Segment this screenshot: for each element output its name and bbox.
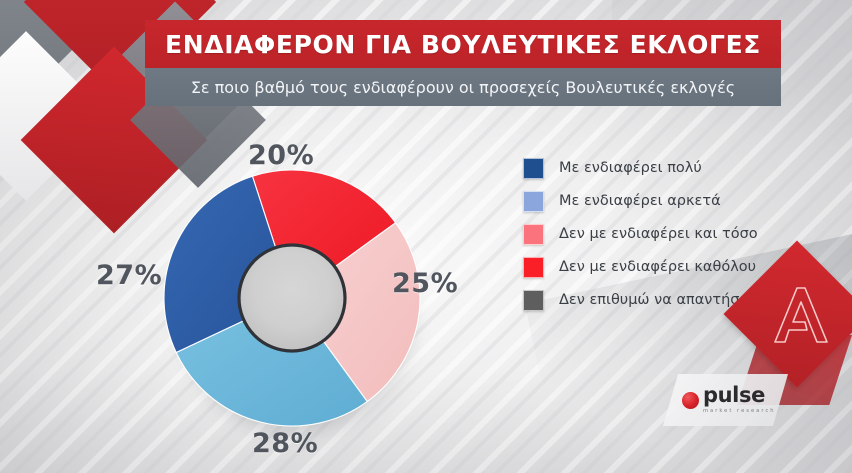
legend-item: Με ενδιαφέρει αρκετά	[523, 188, 758, 214]
legend-item: Με ενδιαφέρει πολύ	[523, 155, 758, 181]
pulse-dot-icon	[682, 392, 699, 409]
pct-label-top: 20%	[248, 140, 314, 171]
pulse-tagline: market research	[703, 409, 776, 414]
legend-swatch-icon	[523, 257, 544, 278]
poll-graphic: ΕΝΔΙΑΦΕΡΟΝ ΓΙΑ ΒΟΥΛΕΥΤΙΚΕΣ ΕΚΛΟΓΕΣ Σε πο…	[0, 0, 852, 473]
chart-legend: Με ενδιαφέρει πολύΜε ενδιαφέρει αρκετάΔε…	[523, 155, 758, 320]
legend-label: Δεν επιθυμώ να απαντήσω	[559, 292, 752, 308]
legend-label: Δεν με ενδιαφέρει και τόσο	[559, 226, 758, 242]
legend-swatch-icon	[523, 224, 544, 245]
legend-label: Δεν με ενδιαφέρει καθόλου	[559, 259, 756, 275]
pct-label-left: 27%	[96, 260, 162, 291]
legend-label: Με ενδιαφέρει πολύ	[559, 160, 702, 176]
alpha-a-icon	[745, 262, 849, 366]
pulse-wordmark: pulse	[703, 385, 776, 406]
title-bar: ΕΝΔΙΑΦΕΡΟΝ ΓΙΑ ΒΟΥΛΕΥΤΙΚΕΣ ΕΚΛΟΓΕΣ	[145, 20, 781, 68]
legend-item: Δεν με ενδιαφέρει και τόσο	[523, 221, 758, 247]
donut-chart-svg	[158, 168, 426, 436]
pct-label-right: 25%	[392, 268, 458, 299]
legend-item: Δεν με ενδιαφέρει καθόλου	[523, 254, 758, 280]
legend-item: Δεν επιθυμώ να απαντήσω	[523, 287, 758, 313]
pulse-logo: pulse market research	[663, 374, 788, 426]
legend-swatch-icon	[523, 191, 544, 212]
donut-chart	[158, 168, 426, 436]
donut-center-hole	[239, 245, 345, 351]
legend-swatch-icon	[523, 290, 544, 311]
legend-label: Με ενδιαφέρει αρκετά	[559, 193, 721, 209]
subtitle-bar: Σε ποιο βαθμό τους ενδιαφέρουν οι προσεχ…	[145, 68, 781, 106]
pct-label-bottom: 28%	[252, 428, 318, 459]
page-subtitle: Σε ποιο βαθμό τους ενδιαφέρουν οι προσεχ…	[191, 78, 735, 97]
page-title: ΕΝΔΙΑΦΕΡΟΝ ΓΙΑ ΒΟΥΛΕΥΤΙΚΕΣ ΕΚΛΟΓΕΣ	[165, 30, 761, 59]
legend-swatch-icon	[523, 158, 544, 179]
